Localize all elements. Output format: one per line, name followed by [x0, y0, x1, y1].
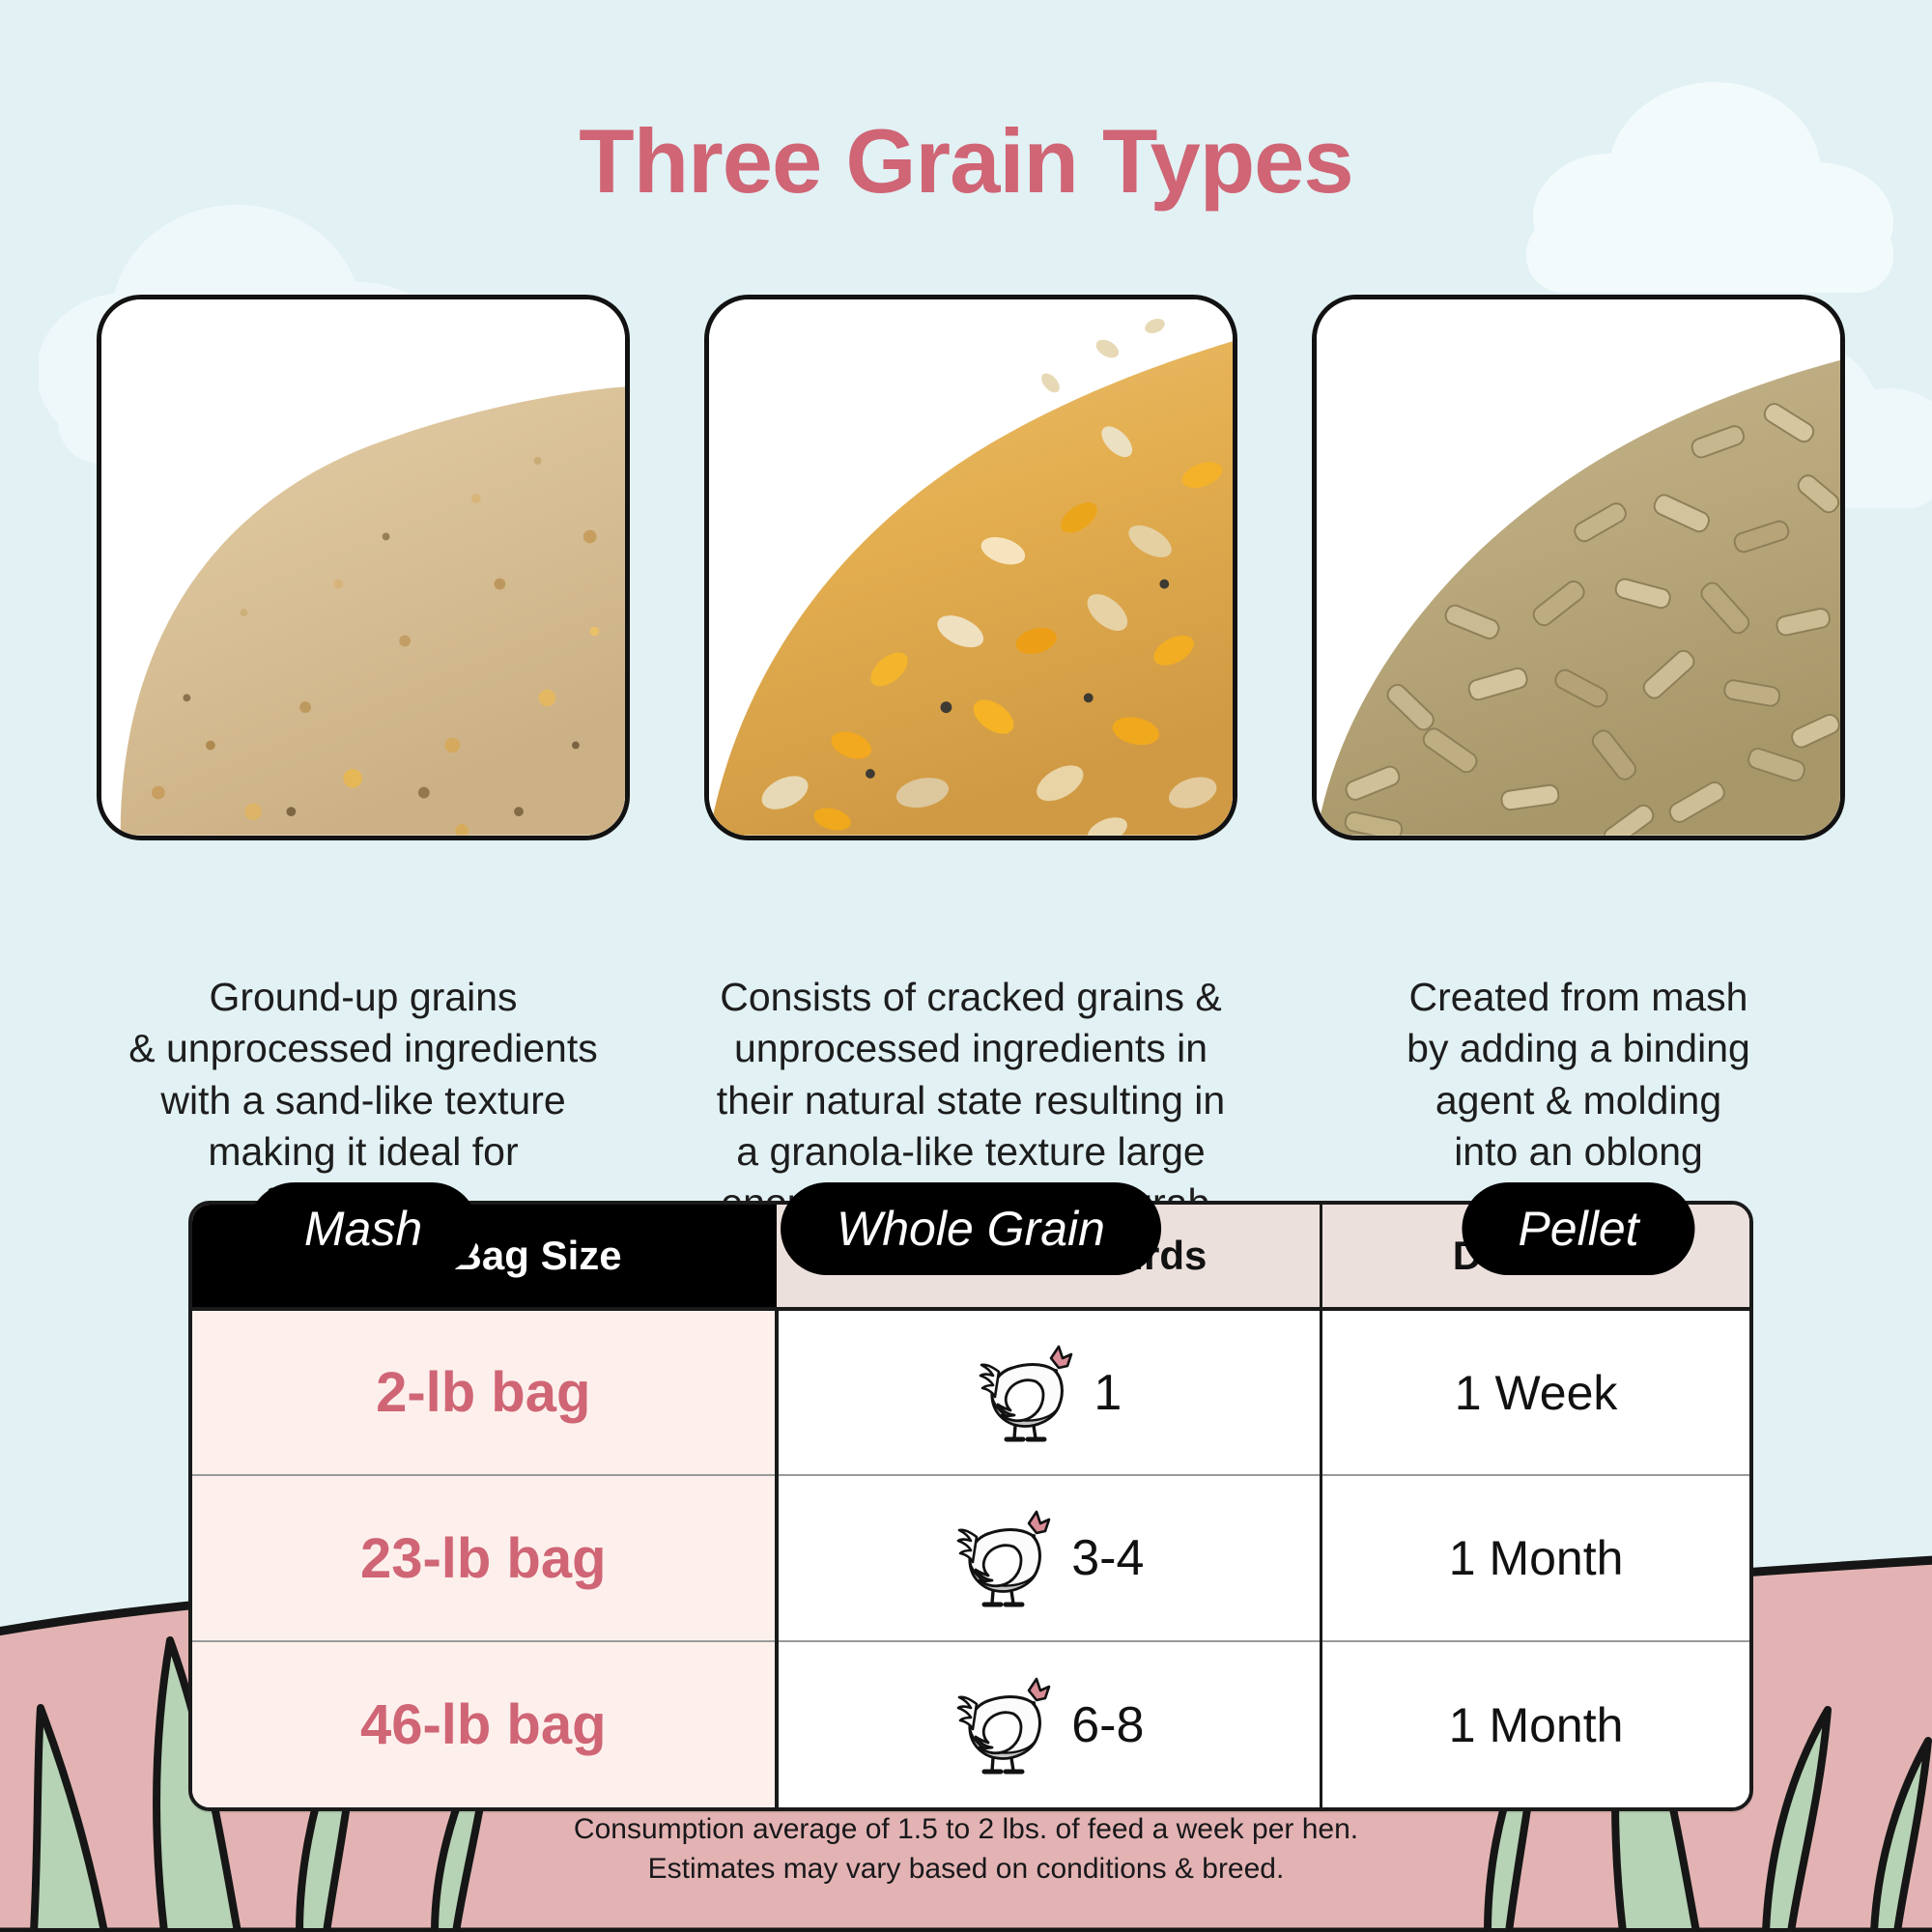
cell-duration: 1 Week	[1321, 1309, 1749, 1475]
cell-bag-size: 23-lb bag	[192, 1475, 777, 1641]
cell-bag-size: 46-lb bag	[192, 1641, 777, 1807]
cell-bag-size: 2-lb bag	[192, 1309, 777, 1475]
infographic-canvas: Three Grain Types	[0, 0, 1932, 1932]
birds-count-label: 1	[1094, 1364, 1122, 1422]
feed-bag-table: Feed Bag Size Number of Birds Duration 2…	[188, 1201, 1753, 1811]
grain-label-pellet: Pellet	[1462, 1182, 1694, 1276]
grain-type-cards: Mash Ground-up grains & unprocessed ingr…	[97, 295, 1845, 1229]
footer-line-1: Consumption average of 1.5 to 2 lbs. of …	[0, 1809, 1932, 1849]
grain-label-mash: Mash	[248, 1182, 478, 1276]
birds-count-label: 6-8	[1071, 1696, 1144, 1754]
cell-duration: 1 Month	[1321, 1475, 1749, 1641]
whole-grain-photo	[704, 295, 1237, 840]
cell-number-of-birds: 3-4	[777, 1475, 1321, 1641]
hen-icon	[976, 1339, 1076, 1447]
table-row: 2-lb bag	[192, 1309, 1749, 1475]
cell-duration: 1 Month	[1321, 1641, 1749, 1807]
footer-note: Consumption average of 1.5 to 2 lbs. of …	[0, 1809, 1932, 1889]
grain-card-whole-grain: Whole Grain Consists of cracked grains &…	[704, 295, 1237, 1229]
hen-icon	[953, 1504, 1054, 1612]
grain-label-whole-grain: Whole Grain	[781, 1182, 1161, 1276]
mash-photo	[97, 295, 630, 840]
hen-icon	[953, 1671, 1054, 1779]
table-row: 46-lb bag	[192, 1641, 1749, 1807]
whole-grain-photo-graphic	[709, 299, 1233, 836]
pellet-photo	[1312, 295, 1845, 840]
mash-photo-graphic	[101, 299, 625, 836]
footer-line-2: Estimates may vary based on conditions &…	[0, 1849, 1932, 1889]
grain-card-mash: Mash Ground-up grains & unprocessed ingr…	[97, 295, 630, 1229]
cell-number-of-birds: 6-8	[777, 1641, 1321, 1807]
pellet-photo-graphic	[1317, 299, 1840, 836]
grain-card-pellet: Pellet Created from mash by adding a bin…	[1312, 295, 1845, 1229]
birds-count-label: 3-4	[1071, 1529, 1144, 1587]
table-row: 23-lb bag	[192, 1475, 1749, 1641]
cell-number-of-birds: 1	[777, 1309, 1321, 1475]
page-title: Three Grain Types	[0, 114, 1932, 210]
